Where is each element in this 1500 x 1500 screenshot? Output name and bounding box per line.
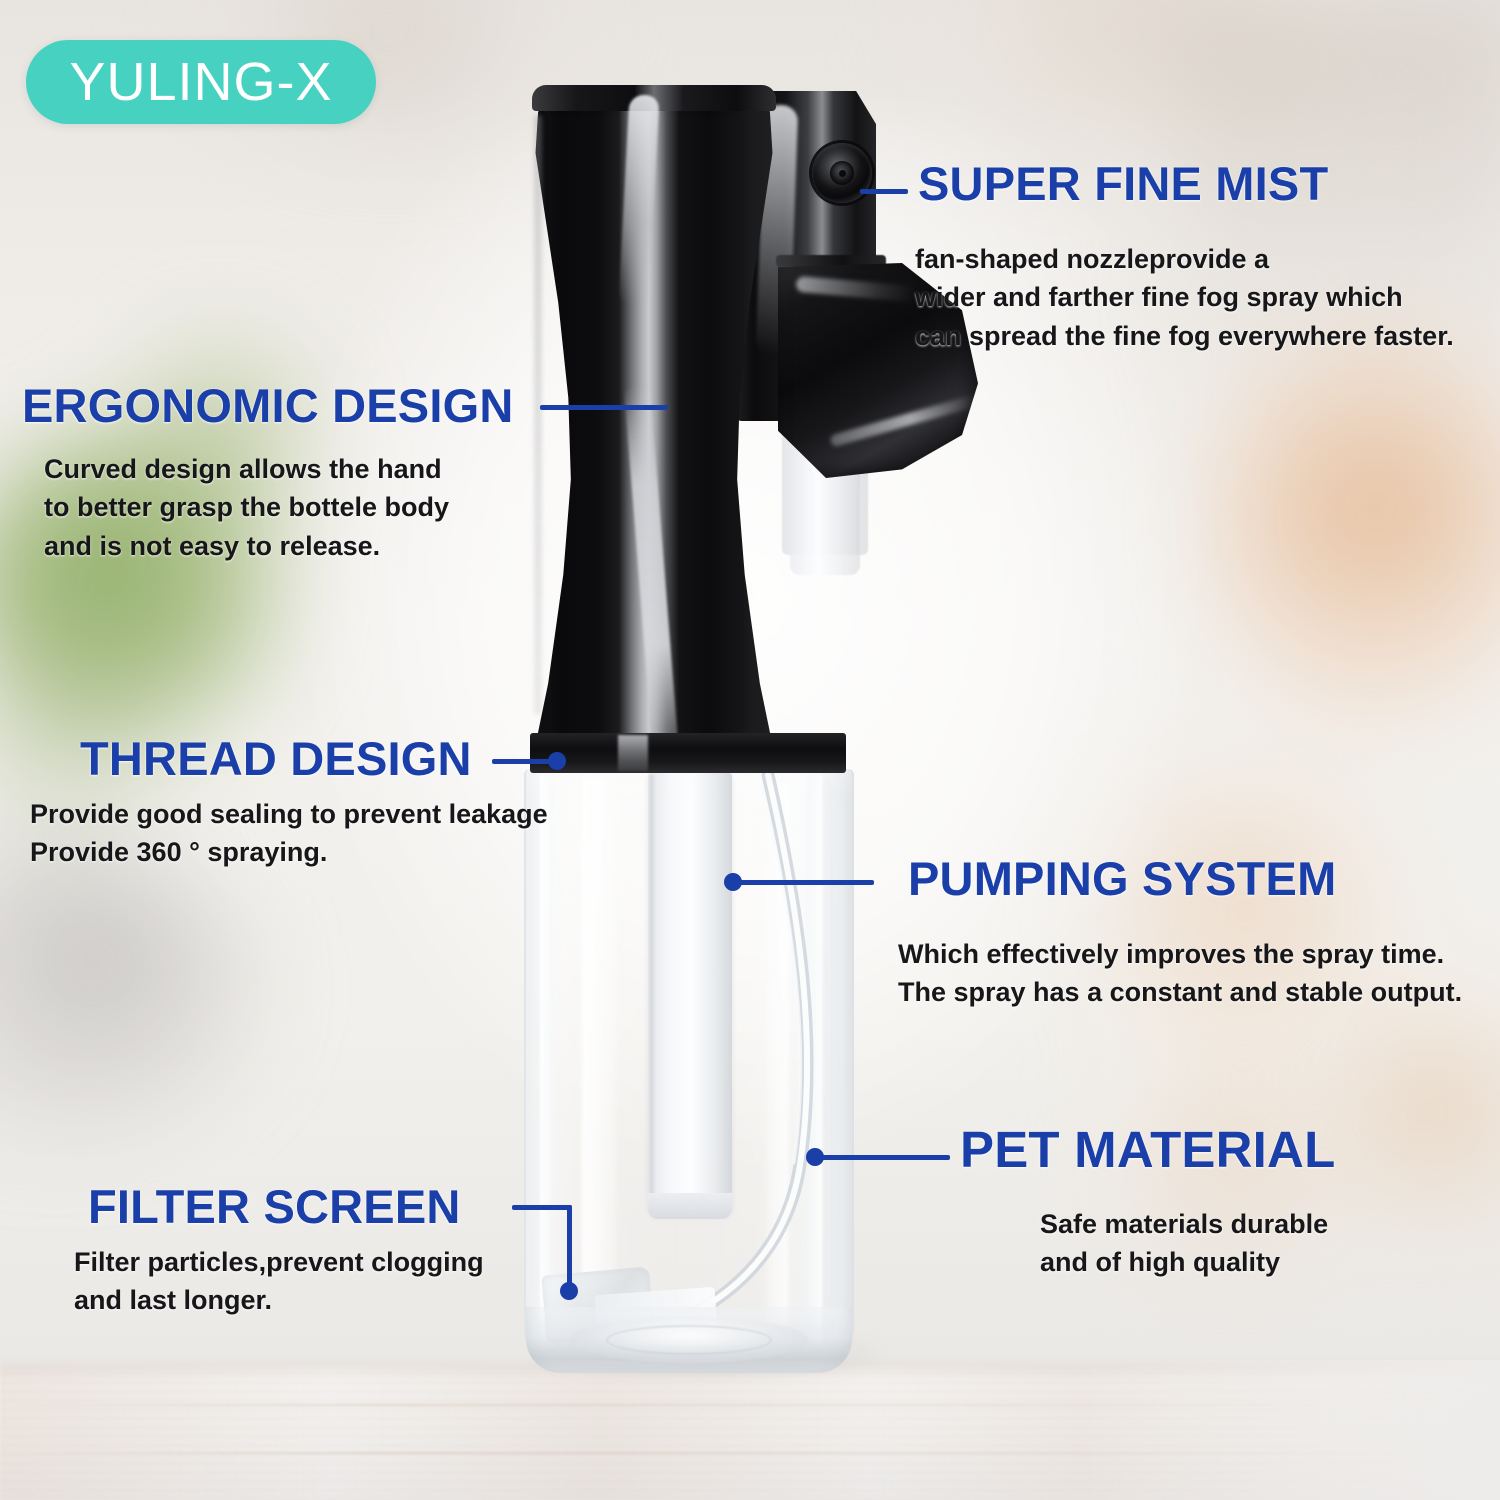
bottle-wall-right <box>806 775 822 1347</box>
leader-dot-thread-design <box>548 752 566 770</box>
sprayer-head <box>528 85 848 765</box>
thread-collar-gloss <box>618 735 648 771</box>
callout-body-line: The spray has a constant and stable outp… <box>898 973 1462 1011</box>
thread-collar <box>530 733 846 773</box>
callout-body-line: wider and farther fine fog spray which <box>915 278 1454 316</box>
infographic-canvas: YULING-X SUPER FINE MIST fan-shaped nozz… <box>0 0 1500 1500</box>
callout-title-filter-screen: FILTER SCREEN <box>88 1183 461 1230</box>
nozzle-icon <box>812 143 872 203</box>
callout-body-line: and of high quality <box>1040 1243 1328 1281</box>
leader-line-ergonomic-design <box>540 405 668 410</box>
nozzle-aperture <box>839 170 846 177</box>
pump-cylinder-edge <box>650 775 657 1211</box>
callout-title-pet-material: PET MATERIAL <box>960 1124 1335 1175</box>
brand-badge: YULING-X <box>26 40 376 124</box>
pump-cylinder-cap <box>648 1193 732 1219</box>
leader-line-super-fine-mist <box>860 189 908 194</box>
callout-body-line: Filter particles,prevent clogging <box>74 1243 484 1281</box>
callout-body-line: Safe materials durable <box>1040 1205 1328 1243</box>
callout-body-line: Provide 360 ° spraying. <box>30 833 548 871</box>
pump-cylinder <box>648 773 732 1215</box>
bottle-highlight-left <box>582 777 616 1337</box>
background-panel-right <box>1180 0 1500 420</box>
leader-line-filter-screen-horizontal <box>512 1205 572 1210</box>
callout-body-line: can spread the fine fog everywhere faste… <box>915 317 1454 355</box>
callout-body-line: Provide good sealing to prevent leakage <box>30 795 548 833</box>
leader-line-thread-design <box>492 759 556 764</box>
callout-body-line: Curved design allows the hand <box>44 450 449 488</box>
leader-dot-filter-screen <box>560 1282 578 1300</box>
callout-body-line: Which effectively improves the spray tim… <box>898 935 1462 973</box>
callout-title-ergonomic-design: ERGONOMIC DESIGN <box>22 382 514 429</box>
leader-line-pumping-system <box>736 880 874 885</box>
sprayer-head-edge-gloss <box>534 115 542 715</box>
brand-name: YULING-X <box>69 55 332 109</box>
callout-title-pumping-system: PUMPING SYSTEM <box>908 855 1336 902</box>
callout-body-line: and is not easy to release. <box>44 527 449 565</box>
callout-body-line: to better grasp the bottele body <box>44 488 449 526</box>
callout-body-line: and last longer. <box>74 1281 484 1319</box>
table-right-fade <box>1080 1360 1500 1500</box>
callout-title-super-fine-mist: SUPER FINE MIST <box>918 160 1328 207</box>
callout-body-line: fan-shaped nozzleprovide a <box>915 240 1454 278</box>
background-shadow-blur-left <box>0 840 260 1140</box>
bottle-base-ring <box>606 1325 772 1355</box>
product-spray-bottle <box>500 85 920 1385</box>
leader-line-pet-material <box>818 1155 950 1160</box>
leader-line-filter-screen-vertical <box>567 1205 572 1289</box>
callout-title-thread-design: THREAD DESIGN <box>80 735 472 782</box>
bottle-highlight-right <box>766 785 788 1325</box>
